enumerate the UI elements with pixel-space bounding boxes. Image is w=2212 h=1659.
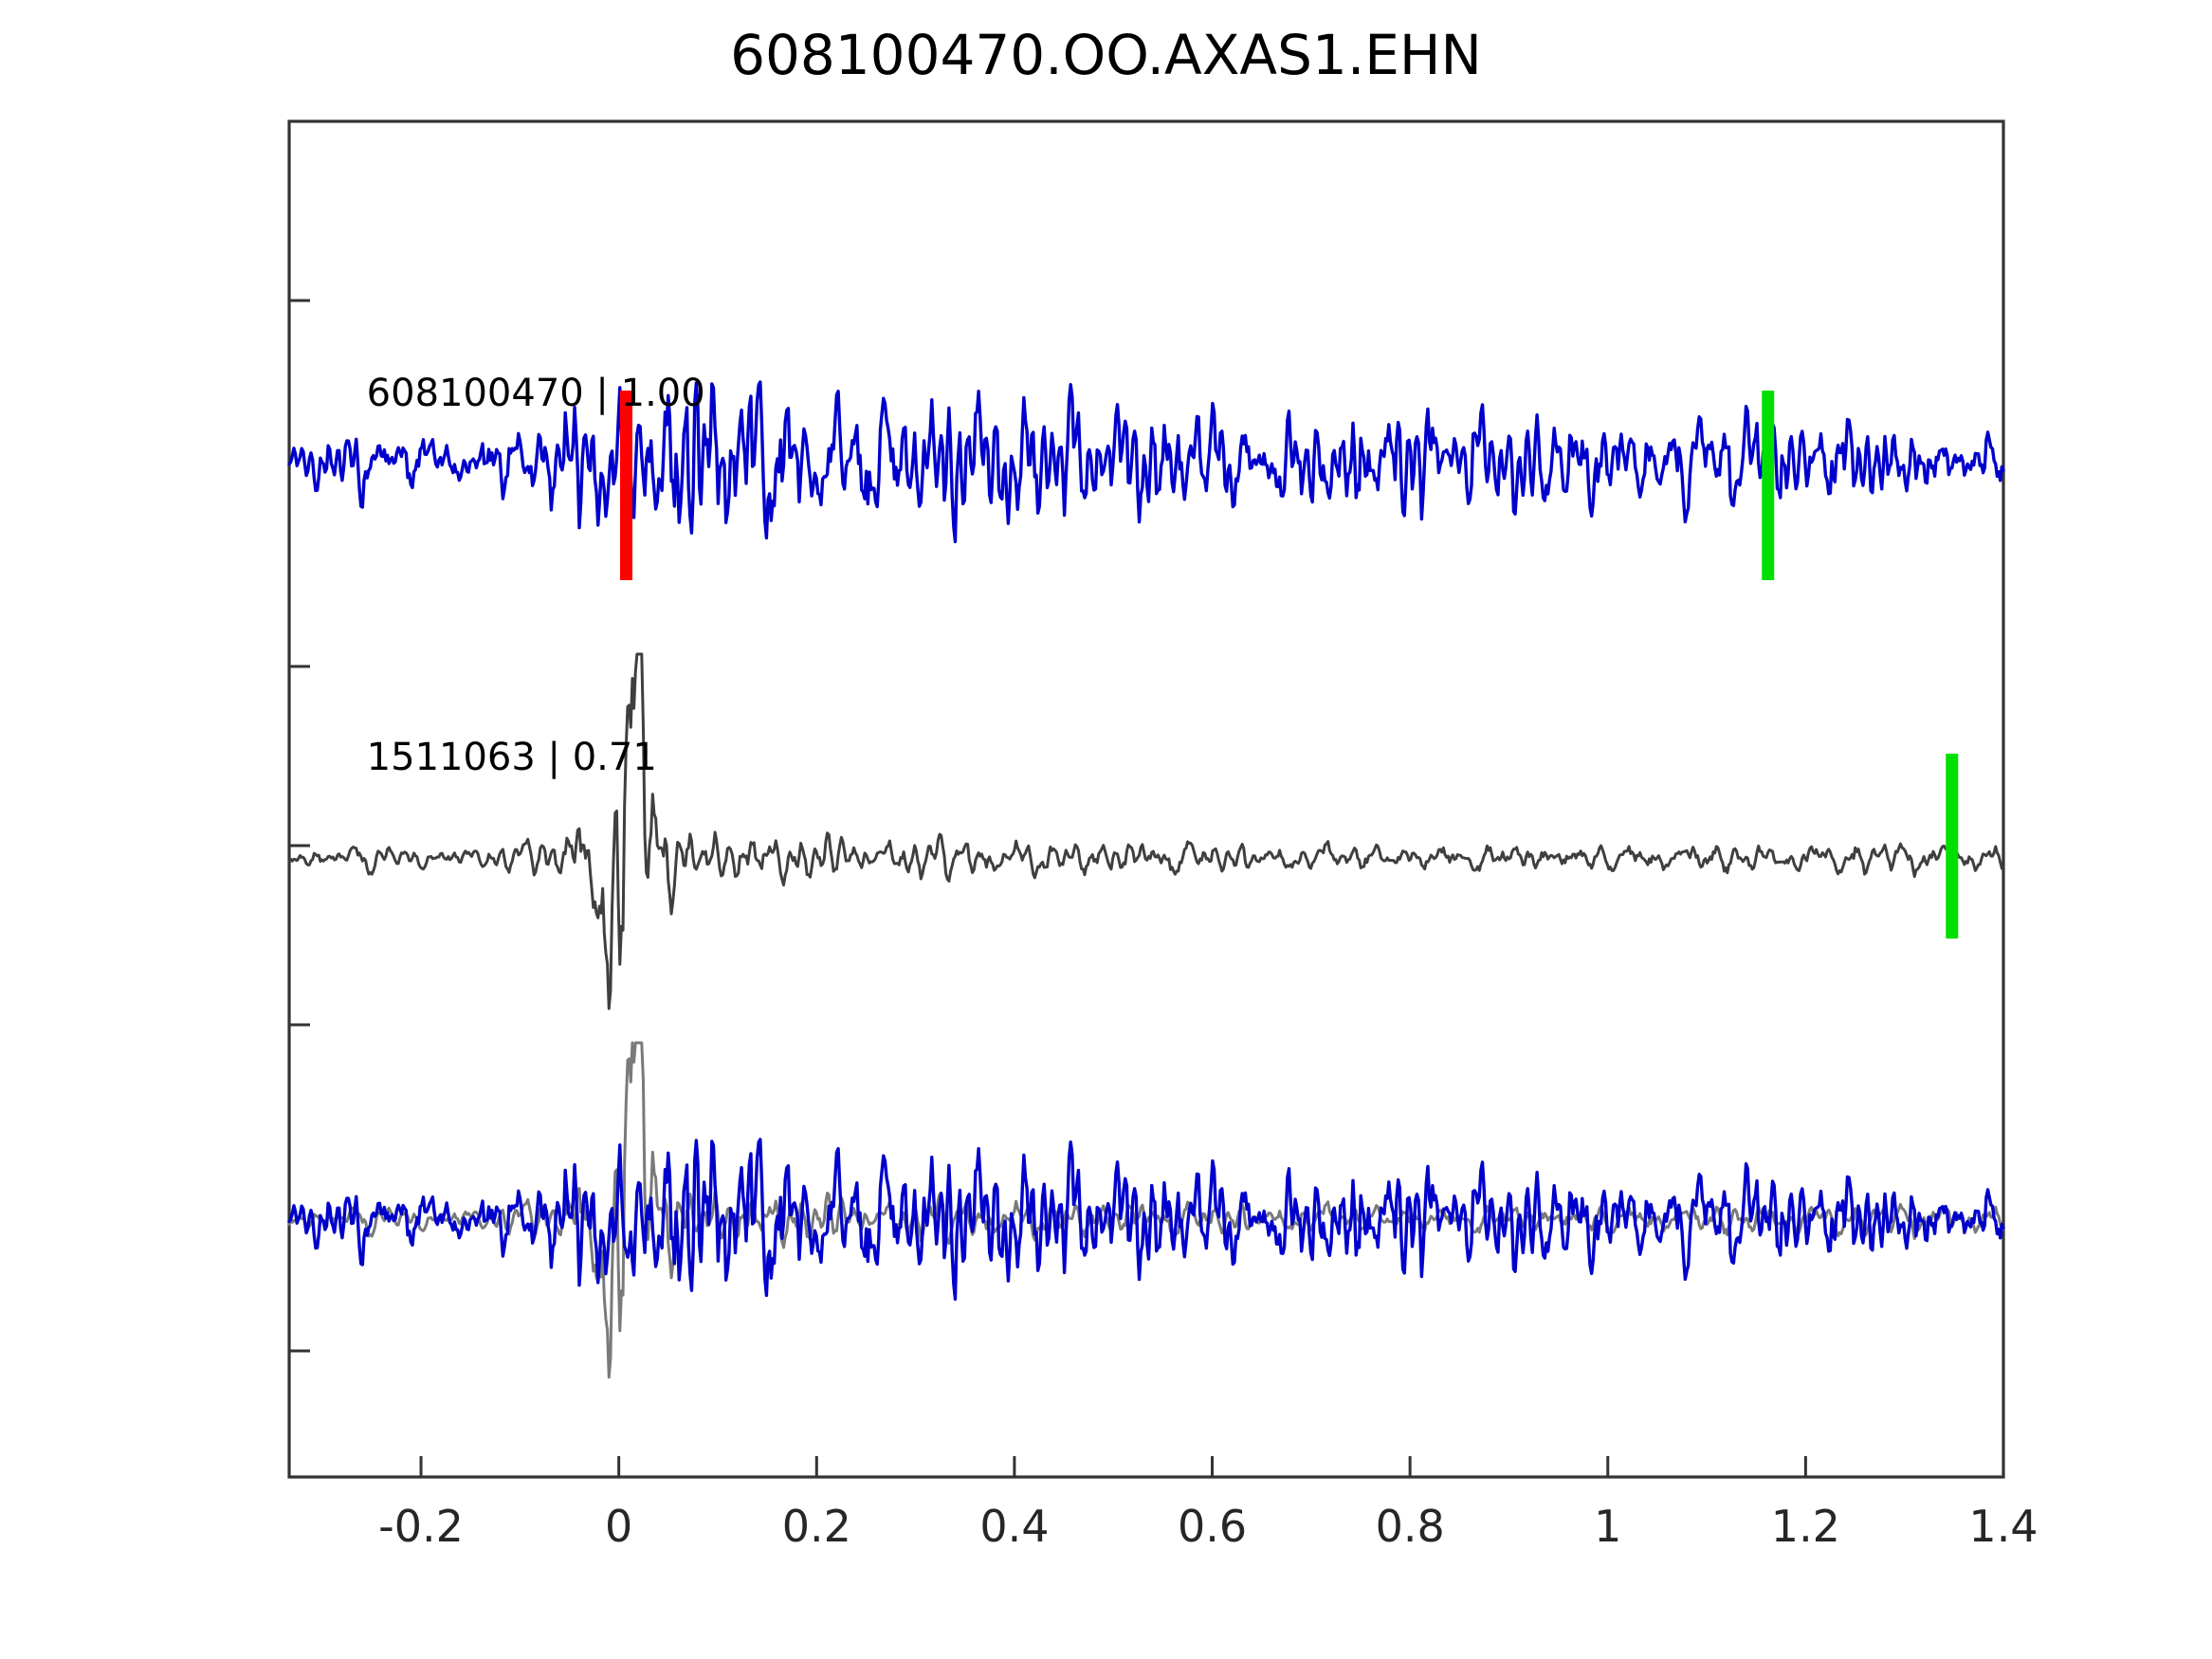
waveform-plot: -0.200.20.40.60.811.21.4 608100470 | 1.0… xyxy=(0,0,2212,1659)
trace-group xyxy=(289,382,2003,1377)
pick-marker-green-mid xyxy=(1946,754,1958,939)
template-trace-line xyxy=(289,654,2003,1009)
axes-frame xyxy=(289,121,2003,1477)
x-tick-label-1: 0 xyxy=(605,1501,632,1552)
figure-canvas: 608100470.OO.AXAS1.EHN -0.200.20.40.60.8… xyxy=(0,0,2212,1659)
x-tick-label-8: 1.4 xyxy=(1968,1501,2038,1552)
x-tick-label-group: -0.200.20.40.60.811.21.4 xyxy=(378,1501,2038,1552)
x-tick-label-6: 1 xyxy=(1594,1501,1621,1552)
x-tick-label-7: 1.2 xyxy=(1771,1501,1840,1552)
x-tick-label-3: 0.4 xyxy=(979,1501,1049,1552)
plot-border xyxy=(289,121,2003,1477)
x-tick-label-2: 0.2 xyxy=(782,1501,851,1552)
trace-label-group: 608100470 | 1.001511063 | 0.71 xyxy=(367,372,705,779)
x-tick-label-5: 0.8 xyxy=(1376,1501,1445,1552)
target-trace-label: 608100470 | 1.00 xyxy=(367,372,705,415)
template-trace-label: 1511063 | 0.71 xyxy=(367,736,657,779)
pick-marker-red xyxy=(620,391,632,580)
x-axis-ticks xyxy=(421,1456,2003,1477)
pick-marker-green-top xyxy=(1762,391,1774,580)
x-tick-label-4: 0.6 xyxy=(1178,1501,1247,1552)
x-tick-label-0: -0.2 xyxy=(378,1501,464,1552)
